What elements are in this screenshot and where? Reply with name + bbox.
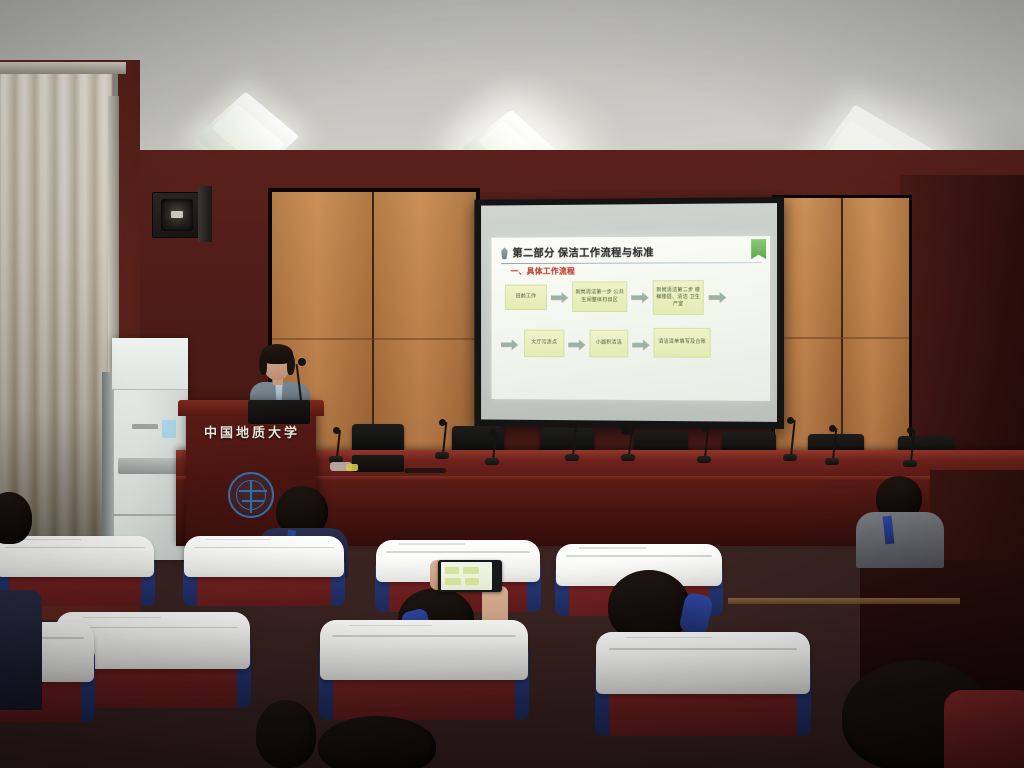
gooseneck-microphone [700, 428, 710, 458]
smartphone-screen [441, 562, 492, 590]
podium-institution-name: 中国地质大学 [192, 422, 312, 441]
curtain-rail [0, 62, 126, 74]
gooseneck-microphone [624, 424, 634, 456]
flow-box: 班前工作 [505, 285, 547, 311]
podium-laptop-screen [248, 400, 310, 424]
table-small-object [346, 464, 358, 471]
slide-title-divider [501, 262, 762, 264]
window-curtain [0, 70, 112, 540]
audience-head-foreground [318, 716, 436, 768]
conference-hall-scene: 第二部分 保洁工作流程与标准 一、具体工作流程 班前工作 到岗清洁第一步 公共生… [0, 0, 1024, 768]
flow-box: 到岗清洁第一步 公共生间整体扫目区 [572, 281, 627, 312]
flow-arrow [632, 340, 650, 351]
projection-screen: 第二部分 保洁工作流程与标准 一、具体工作流程 班前工作 到岗清洁第一步 公共生… [474, 197, 784, 429]
gooseneck-microphone [828, 428, 838, 460]
audience-body [856, 512, 944, 568]
slide-marker-icon [501, 247, 508, 259]
slide-title-row: 第二部分 保洁工作流程与标准 [499, 244, 764, 263]
flow-box: 清洁清单填写及台账 [654, 328, 711, 358]
projected-slide: 第二部分 保洁工作流程与标准 一、具体工作流程 班前工作 到岗清洁第一步 公共生… [492, 236, 771, 401]
gooseneck-microphone [332, 430, 342, 458]
audience-body-left-edge [0, 590, 42, 710]
gooseneck-microphone [786, 420, 796, 456]
flow-arrow [568, 340, 585, 351]
flow-box: 到岗清洁第二步 楼梯楼层、清洁 卫生产室 [653, 280, 704, 315]
flow-box: 小面积清洁 [589, 330, 628, 358]
gooseneck-microphone [438, 422, 448, 454]
table-cable [404, 468, 446, 473]
gooseneck-microphone [488, 432, 498, 460]
audience-head-foreground [256, 700, 316, 768]
wood-trim-strip [728, 598, 960, 604]
smartphone[interactable] [438, 560, 502, 592]
auditorium-seat [188, 540, 340, 606]
gooseneck-microphone [568, 424, 578, 456]
university-seal-logo [228, 472, 274, 518]
audience-body-foreground [944, 690, 1024, 768]
auditorium-seat [324, 624, 524, 720]
flow-arrow [631, 292, 649, 303]
flow-arrow [551, 292, 568, 303]
presenter-laptop [352, 455, 404, 472]
flow-arrow [709, 292, 727, 303]
auditorium-seat [600, 636, 806, 736]
flow-box: 大厅污渍点 [524, 330, 564, 358]
flow-arrow [501, 339, 518, 350]
wall-speaker-side [198, 186, 212, 242]
gooseneck-microphone [906, 430, 916, 462]
slide-subtitle: 一、具体工作流程 [511, 266, 576, 277]
slide-title: 第二部分 保洁工作流程与标准 [513, 245, 655, 260]
projection-screen-surface: 第二部分 保洁工作流程与标准 一、具体工作流程 班前工作 到岗清洁第一步 公共生… [481, 203, 777, 422]
